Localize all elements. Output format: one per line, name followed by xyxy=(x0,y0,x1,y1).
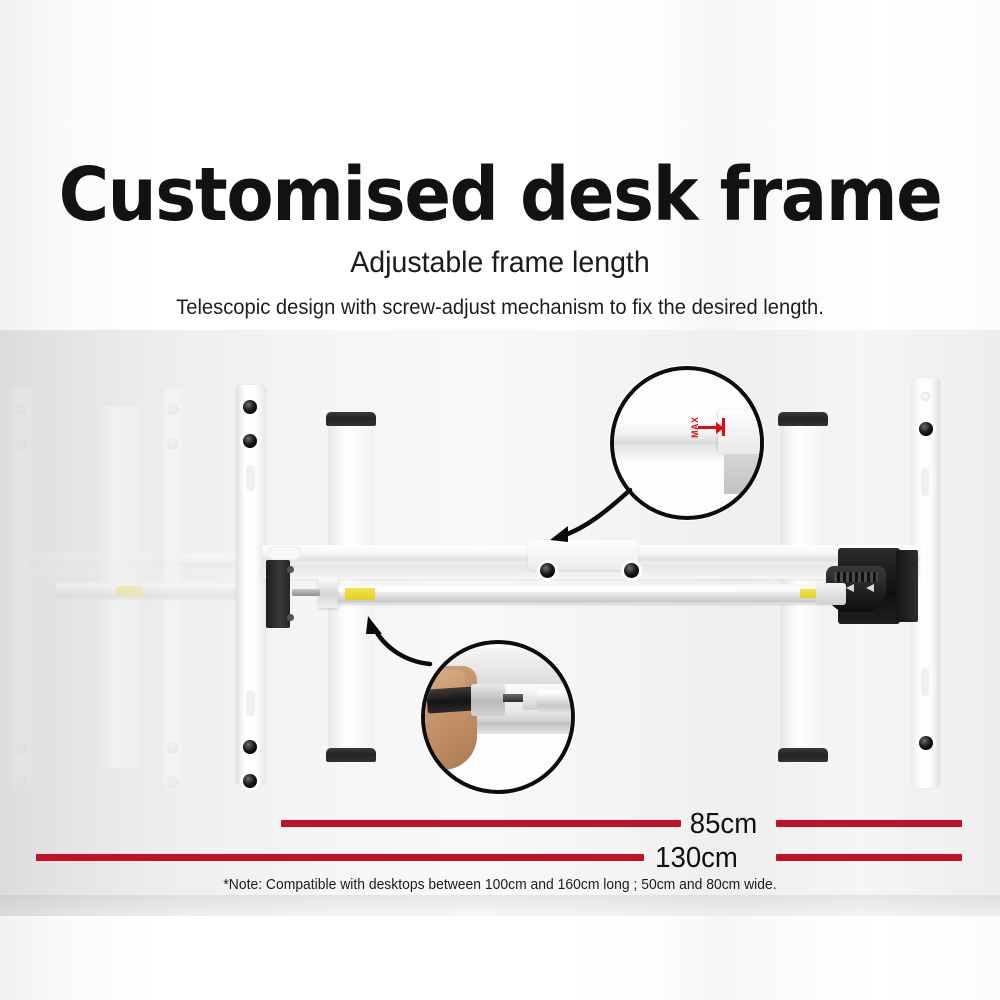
tube-yellow-label xyxy=(345,588,375,600)
dimension-line-85-left xyxy=(281,820,681,827)
center-bracket-screw-right xyxy=(624,563,639,578)
leg-screw-top-1 xyxy=(243,400,257,414)
leg-screw-bottom-1 xyxy=(243,740,257,754)
callout-screw-adjust xyxy=(421,640,575,794)
callout-max-arrow-icon xyxy=(538,488,634,548)
compatibility-note: *Note: Compatible with desktops between … xyxy=(20,877,980,893)
page-subtitle: Adjustable frame length xyxy=(25,246,975,280)
infographic-canvas: Customised desk frame Adjustable frame l… xyxy=(0,0,1000,1000)
telescopic-tube-highlight xyxy=(336,587,826,592)
end-plate-bolt-a xyxy=(287,566,294,573)
left-foot-cap-top xyxy=(326,412,376,426)
dimension-label-85: 85cm xyxy=(690,808,757,841)
callout-screw-arrow-icon xyxy=(348,602,438,670)
max-arrow-stop-icon xyxy=(722,418,725,436)
dimension-line-130-left xyxy=(36,854,644,861)
right-foot-cap-bottom xyxy=(778,748,828,762)
adjuster-coupling xyxy=(318,578,338,608)
dimension-line-130-right xyxy=(776,854,962,861)
beam-tab-left xyxy=(268,546,302,560)
page-title: Customised desk frame xyxy=(35,158,965,233)
left-foot-cap-bottom xyxy=(326,748,376,762)
allen-key-handle xyxy=(426,686,476,713)
right-foot-cap-top xyxy=(778,412,828,426)
leg-screw-bottom-2 xyxy=(243,774,257,788)
center-bracket-screw-left xyxy=(540,563,555,578)
dimension-line-85-right xyxy=(776,820,962,827)
right-leg-screw-bottom xyxy=(919,736,933,750)
page-description: Telescopic design with screw-adjust mech… xyxy=(20,296,980,320)
dimension-label-130: 130cm xyxy=(655,842,738,875)
floor-shadow xyxy=(0,895,1000,917)
end-plate-bolt-b xyxy=(287,614,294,621)
adjuster-rod xyxy=(292,589,320,596)
right-leg-screw-top xyxy=(919,422,933,436)
leg-screw-top-2 xyxy=(243,434,257,448)
